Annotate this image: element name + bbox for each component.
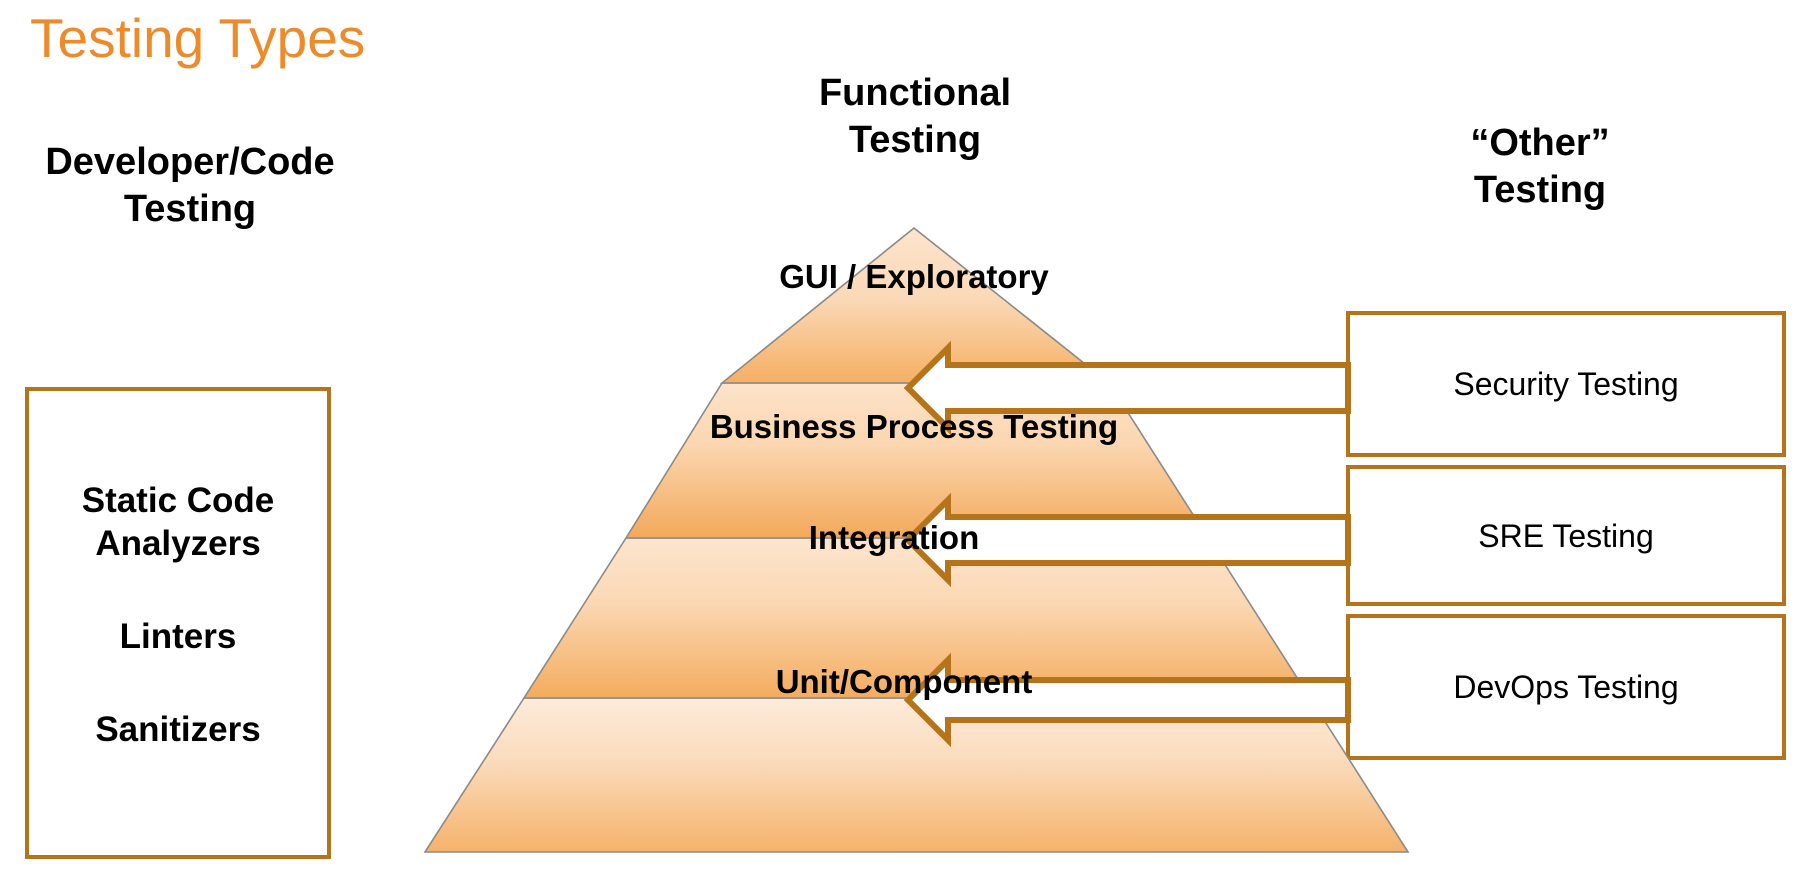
pyramid-label-unit-component: Unit/Component	[776, 663, 1033, 701]
slide-canvas: Testing Types Developer/Code Testing Fun…	[0, 0, 1813, 883]
pyramid-label-business-process-testing: Business Process Testing	[710, 408, 1118, 446]
pyramid-label-gui-exploratory: GUI / Exploratory	[779, 258, 1049, 296]
pyramid-tier-gui-exploratory	[722, 228, 1109, 383]
pyramid-label-integration: Integration	[809, 519, 980, 557]
